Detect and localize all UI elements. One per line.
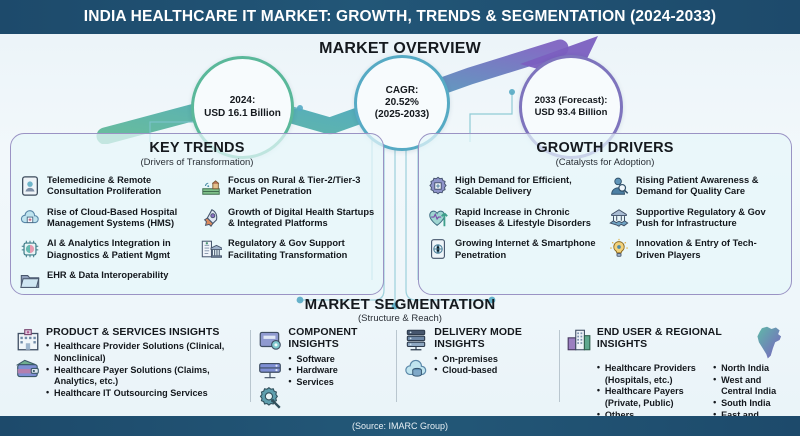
growth-drivers-subtitle: (Catalysts for Adoption) [419, 157, 791, 168]
rural-field-icon [200, 175, 222, 197]
ai-chip-icon [19, 238, 41, 260]
key-trends-panel: KEY TRENDS (Drivers of Transformation) T… [10, 133, 384, 295]
bubble-forecast-line1: 2033 (Forecast): [535, 95, 608, 107]
key-trend-label: Regulatory & Gov Support Facilitating Tr… [228, 238, 377, 261]
footer-bar: (Source: IMARC Group) [0, 416, 800, 436]
telemedicine-icon [19, 175, 41, 197]
key-trend-label: Rise of Cloud-Based Hospital Management … [47, 207, 196, 230]
growth-drivers-right-column: Rising Patient Awareness & Demand for Qu… [608, 175, 785, 270]
handshake-government-icon [608, 207, 630, 229]
segment-bullet: Healthcare Providers (Hospitals, etc.) [597, 363, 703, 386]
growth-driver-item: Rising Patient Awareness & Demand for Qu… [608, 175, 785, 198]
hardware-server-icon [257, 356, 283, 382]
wallet-icon [15, 356, 41, 382]
key-trend-item: EHR & Data Interoperability [19, 270, 196, 292]
segment-bullet: Healthcare Provider Solutions (Clinical,… [46, 341, 243, 364]
key-trend-item: Focus on Rural & Tier-2/Tier-3 Market Pe… [200, 175, 377, 198]
market-segmentation-title: MARKET SEGMENTATION [0, 296, 800, 313]
key-trend-label: AI & Analytics Integration in Diagnostic… [47, 238, 196, 261]
segment-icons [15, 326, 41, 412]
india-map-icon [755, 326, 785, 360]
segment-body: END USER & REGIONAL INSIGHTS Healthcare … [597, 326, 785, 412]
key-trend-label: EHR & Data Interoperability [47, 270, 168, 281]
key-trend-item: AI & Analytics Integration in Diagnostic… [19, 238, 196, 261]
page-title: INDIA HEALTHCARE IT MARKET: GROWTH, TREN… [84, 8, 716, 26]
growth-drivers-left-column: High Demand for Efficient, Scalable Deli… [427, 175, 604, 270]
cloud-database-icon [403, 356, 429, 382]
hospital-building-icon [15, 327, 41, 353]
growth-drivers-title: GROWTH DRIVERS [419, 140, 791, 156]
bubble-cagr-line3: (2025-2033) [375, 109, 429, 121]
segment-bullet: Healthcare Payers (Private, Public) [597, 386, 703, 409]
segment-bullet: Services [288, 377, 337, 389]
key-trend-item: Telemedicine & Remote Consultation Proli… [19, 175, 196, 198]
gear-hospital-icon [427, 175, 449, 197]
key-trend-label: Telemedicine & Remote Consultation Proli… [47, 175, 196, 198]
segment-icons [566, 326, 592, 412]
key-trends-heading: KEY TRENDS (Drivers of Transformation) [11, 140, 383, 168]
growth-driver-label: Growing Internet & Smartphone Penetratio… [455, 238, 604, 261]
growth-driver-label: Rising Patient Awareness & Demand for Qu… [636, 175, 785, 198]
segment-heading: PRODUCT & SERVICES INSIGHTS [46, 326, 243, 338]
segment-region-bullet: West and Central India [713, 375, 785, 398]
smartphone-globe-icon [427, 238, 449, 260]
bubble-forecast-line2: USD 93.4 Billion [535, 107, 608, 119]
gear-wrench-icon [257, 385, 283, 411]
segment-bullet-list: Software Hardware Services [288, 354, 337, 389]
segment-heading: DELIVERY MODE INSIGHTS [434, 326, 552, 351]
rocket-icon [200, 207, 222, 229]
growth-driver-item: Growing Internet & Smartphone Penetratio… [427, 238, 604, 261]
lightbulb-idea-icon [608, 238, 630, 260]
bubble-base-year-line1: 2024: [204, 95, 281, 107]
segmentation-cards-row: PRODUCT & SERVICES INSIGHTS Healthcare P… [8, 326, 792, 412]
segment-region-bullet: North India [713, 363, 785, 375]
segment-bullet: Cloud-based [434, 365, 498, 377]
bubble-base-year-line2: USD 16.1 Billion [204, 108, 281, 120]
segment-bullet: Healthcare Payer Solutions (Claims, Anal… [46, 365, 243, 388]
growth-drivers-heading: GROWTH DRIVERS (Catalysts for Adoption) [419, 140, 791, 168]
key-trend-item: Regulatory & Gov Support Facilitating Tr… [200, 238, 377, 261]
key-trend-item: Rise of Cloud-Based Hospital Management … [19, 207, 196, 230]
cloud-hospital-icon [19, 207, 41, 229]
government-doc-icon [200, 238, 222, 260]
patient-magnifier-icon [608, 175, 630, 197]
segment-bullet: On-premises [434, 354, 498, 366]
segment-heading: COMPONENT INSIGHTS [288, 326, 389, 351]
market-segmentation-subtitle: (Structure & Reach) [0, 313, 800, 324]
segment-heading: END USER & REGIONAL INSIGHTS [597, 326, 751, 351]
segment-bullet-list: Healthcare Provider Solutions (Clinical,… [46, 341, 243, 399]
growth-driver-label: Innovation & Entry of Tech-Driven Player… [636, 238, 785, 261]
city-buildings-icon [566, 327, 592, 353]
growth-driver-item: Rapid Increase in Chronic Diseases & Lif… [427, 207, 604, 230]
key-trend-label: Growth of Digital Health Startups & Inte… [228, 207, 377, 230]
segment-bullet: Hardware [288, 365, 337, 377]
growth-driver-item: High Demand for Efficient, Scalable Deli… [427, 175, 604, 198]
header-bar: INDIA HEALTHCARE IT MARKET: GROWTH, TREN… [0, 0, 800, 34]
segment-bullet: Software [288, 354, 337, 366]
segment-card-end-user-regional: END USER & REGIONAL INSIGHTS Healthcare … [559, 326, 792, 412]
segment-body: PRODUCT & SERVICES INSIGHTS Healthcare P… [46, 326, 243, 412]
key-trends-subtitle: (Drivers of Transformation) [11, 157, 383, 168]
growth-driver-label: Rapid Increase in Chronic Diseases & Lif… [455, 207, 604, 230]
segment-bullet-list: On-premises Cloud-based [434, 354, 498, 377]
segment-body: COMPONENT INSIGHTS Software Hardware Ser… [288, 326, 389, 412]
growth-driver-label: Supportive Regulatory & Gov Push for Inf… [636, 207, 785, 230]
growth-driver-label: High Demand for Efficient, Scalable Deli… [455, 175, 604, 198]
key-trends-title: KEY TRENDS [11, 140, 383, 156]
segment-bullet: Healthcare IT Outsourcing Services [46, 388, 243, 400]
growth-drivers-panel: GROWTH DRIVERS (Catalysts for Adoption) … [418, 133, 792, 295]
key-trends-left-column: Telemedicine & Remote Consultation Proli… [19, 175, 196, 301]
market-segmentation-heading: MARKET SEGMENTATION (Structure & Reach) [0, 296, 800, 324]
key-trend-label: Focus on Rural & Tier-2/Tier-3 Market Pe… [228, 175, 377, 198]
heart-pulse-arrow-icon [427, 207, 449, 229]
growth-driver-item: Supportive Regulatory & Gov Push for Inf… [608, 207, 785, 230]
segment-icons [257, 326, 283, 412]
bubble-cagr-line2: 20.52% [375, 97, 429, 109]
source-note: (Source: IMARC Group) [352, 421, 448, 431]
bubble-cagr-line1: CAGR: [375, 85, 429, 97]
segment-card-component: COMPONENT INSIGHTS Software Hardware Ser… [250, 326, 396, 412]
infographic-canvas: INDIA HEALTHCARE IT MARKET: GROWTH, TREN… [0, 0, 800, 436]
segment-body: DELIVERY MODE INSIGHTS On-premises Cloud… [434, 326, 552, 412]
key-trend-item: Growth of Digital Health Startups & Inte… [200, 207, 377, 230]
segment-region-bullet: South India [713, 398, 785, 410]
segment-card-delivery-mode: DELIVERY MODE INSIGHTS On-premises Cloud… [396, 326, 559, 412]
segment-icons [403, 326, 429, 412]
key-trends-right-column: Focus on Rural & Tier-2/Tier-3 Market Pe… [200, 175, 377, 301]
folder-ehr-icon [19, 270, 41, 292]
growth-driver-item: Innovation & Entry of Tech-Driven Player… [608, 238, 785, 261]
server-rack-icon [403, 327, 429, 353]
software-box-icon [257, 327, 283, 353]
segment-card-product-services: PRODUCT & SERVICES INSIGHTS Healthcare P… [8, 326, 250, 412]
